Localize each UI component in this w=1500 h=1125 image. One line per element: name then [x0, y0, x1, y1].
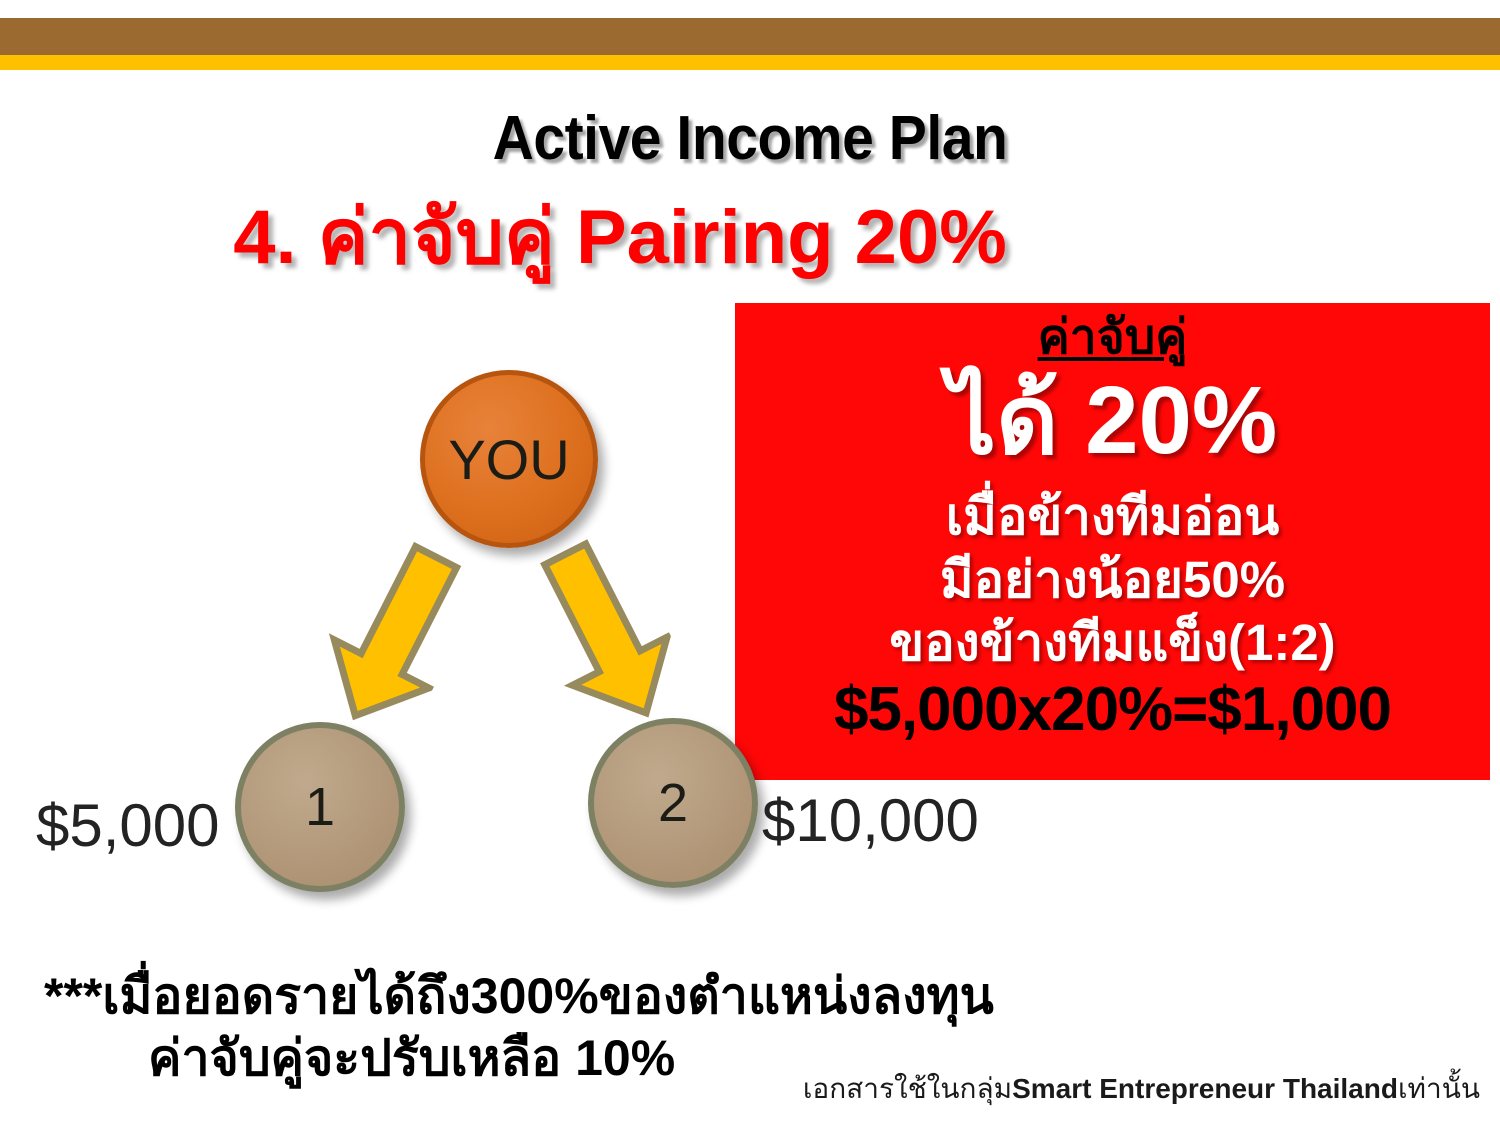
callout-big-value: ได้ 20% — [735, 365, 1490, 477]
tree-node-you: YOU — [420, 370, 598, 548]
callout-condition-line-1: เมื่อข้างทีมอ่อน — [735, 485, 1490, 548]
page-subtitle: 4. ค่าจับคู่ Pairing 20% — [0, 192, 1240, 284]
tree-node-child-2: 2 — [588, 718, 758, 888]
tree-node-child-1: 1 — [235, 722, 405, 892]
footnote-line-1: ***เมื่อยอดรายได้ถึง300%ของตำแหน่งลงทุน — [44, 965, 1244, 1027]
callout-formula: $5,000x20%=$1,000 — [735, 673, 1490, 747]
callout-conditions: เมื่อข้างทีมอ่อน มีอย่างน้อย50% ของข้างท… — [735, 485, 1490, 674]
top-bar-yellow — [0, 55, 1500, 70]
arrow-down-right-icon — [506, 523, 699, 747]
tree-node-child-2-label: 2 — [658, 772, 688, 834]
tree-node-you-label: YOU — [448, 427, 569, 492]
page-title: Active Income Plan — [60, 104, 1440, 174]
footer-prefix: เอกสารใช้ในกลุ่ม — [803, 1073, 1012, 1104]
footnote: ***เมื่อยอดรายได้ถึง300%ของตำแหน่งลงทุน … — [44, 965, 1244, 1089]
arrow-down-left-icon — [296, 523, 489, 747]
slide-canvas: Active Income Plan 4. ค่าจับคู่ Pairing … — [0, 0, 1500, 1125]
amount-right-leg: $10,000 — [762, 788, 979, 854]
callout-heading: ค่าจับคู่ — [735, 309, 1490, 367]
slide-footer: เอกสารใช้ในกลุ่มSmart Entrepreneur Thail… — [0, 1072, 1480, 1106]
top-bar-brown — [0, 18, 1500, 55]
pairing-callout-box: ค่าจับคู่ ได้ 20% เมื่อข้างทีมอ่อน มีอย่… — [735, 303, 1490, 780]
amount-left-leg: $5,000 — [36, 793, 220, 859]
tree-node-child-1-label: 1 — [305, 776, 335, 838]
callout-condition-line-2: มีอย่างน้อย50% — [735, 548, 1490, 611]
footer-suffix: เท่านั้น — [1398, 1073, 1480, 1104]
callout-condition-line-3: ของข้างทีมแข็ง(1:2) — [735, 611, 1490, 674]
footer-brand: Smart Entrepreneur Thailand — [1012, 1073, 1398, 1104]
